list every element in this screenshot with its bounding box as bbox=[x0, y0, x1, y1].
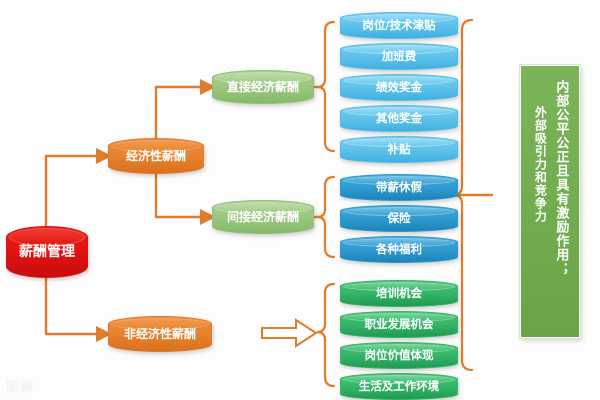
arrowheads bbox=[96, 79, 216, 342]
brace-indirect-group bbox=[317, 177, 334, 257]
leaf-insurance[interactable]: 保险 bbox=[340, 205, 458, 232]
outcome-line-1: 内部公平公正且具有激励作用； bbox=[552, 80, 567, 276]
brace-direct-group bbox=[317, 22, 334, 151]
watermark: 图解 bbox=[6, 376, 34, 395]
leaf-subsidy[interactable]: 补贴 bbox=[340, 136, 458, 163]
node-direct-economic-compensation[interactable]: 直接经济薪酬 bbox=[212, 70, 314, 104]
diagram-canvas: 图解 bbox=[0, 0, 600, 400]
leaf-various-benefits[interactable]: 各种福利 bbox=[340, 236, 458, 263]
link-economic-to-direct bbox=[156, 87, 200, 140]
brace-noneconomic-group bbox=[317, 284, 334, 386]
leaf-post-tech-allowance[interactable]: 岗位/技术津贴 bbox=[340, 12, 458, 39]
leaf-paid-leave[interactable]: 带薪休假 bbox=[340, 174, 458, 201]
outcome-panel[interactable]: 内部公平公正且具有激励作用； 外部吸引力和竞争力 bbox=[520, 65, 580, 338]
leaf-overtime-pay[interactable]: 加班费 bbox=[340, 43, 458, 70]
connector-lines bbox=[0, 0, 600, 400]
link-root-to-noneconomic bbox=[46, 268, 96, 334]
leaf-training-opportunity[interactable]: 培训机会 bbox=[340, 280, 458, 307]
leaf-performance-bonus[interactable]: 绩效奖金 bbox=[340, 74, 458, 101]
link-economic-to-indirect bbox=[156, 172, 200, 217]
node-indirect-economic-compensation[interactable]: 间接经济薪酬 bbox=[212, 200, 314, 234]
node-non-economic-compensation[interactable]: 非经济性薪酬 bbox=[108, 316, 212, 352]
leaf-other-bonus[interactable]: 其他奖金 bbox=[340, 105, 458, 132]
leaf-job-value-realization[interactable]: 岗位价值体现 bbox=[340, 342, 458, 369]
node-root-compensation-management[interactable]: 薪酬管理 bbox=[6, 226, 88, 278]
leaf-career-development[interactable]: 职业发展机会 bbox=[340, 311, 458, 338]
link-root-to-economic bbox=[46, 156, 96, 230]
block-arrow-noneconomic-to-group bbox=[262, 320, 316, 346]
node-economic-compensation[interactable]: 经济性薪酬 bbox=[108, 138, 204, 174]
outcome-line-2: 外部吸引力和竞争力 bbox=[533, 80, 547, 223]
leaf-living-working-environment[interactable]: 生活及工作环境 bbox=[340, 373, 458, 400]
